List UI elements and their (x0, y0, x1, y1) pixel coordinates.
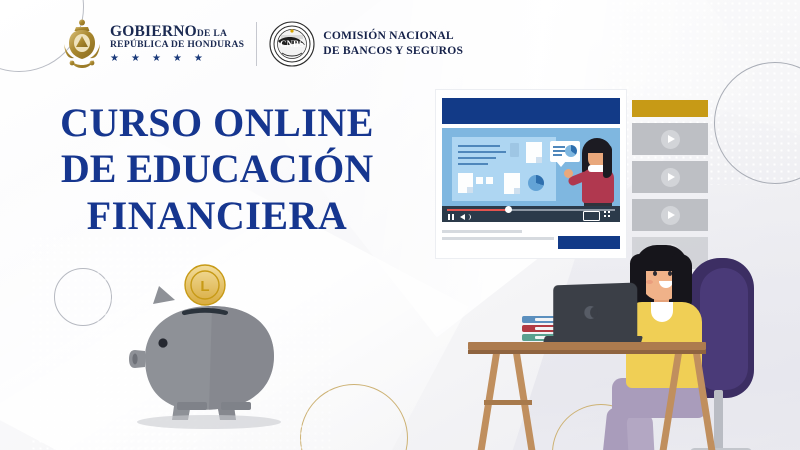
page-title: CURSO ONLINE DE EDUCACIÓN FINANCIERA (22, 100, 412, 239)
video-player-card[interactable] (436, 90, 626, 258)
document-icon (504, 173, 520, 194)
title-line-2: DE EDUCACIÓN (22, 146, 412, 192)
cnbs-logo: CNBS COMISIÓN NACIONAL DE BANCOS Y SEGUR… (269, 21, 463, 67)
logo-divider (256, 22, 257, 66)
video-meta-line (442, 230, 522, 233)
playlist-item[interactable] (632, 123, 708, 155)
honduras-coat-of-arms-icon (62, 18, 102, 70)
progress-knob[interactable] (505, 206, 512, 213)
gov-line-2: REPÚBLICA DE HONDURAS (110, 40, 244, 50)
volume-icon[interactable] (460, 214, 465, 220)
playlist-active-item[interactable] (632, 100, 708, 117)
svg-text:CNBS: CNBS (280, 39, 304, 49)
government-logo: GOBIERNODE LA REPÚBLICA DE HONDURAS ★ ★ … (62, 18, 244, 70)
student-blush (646, 280, 653, 284)
play-icon (661, 168, 680, 187)
gov-line-1: GOBIERNODE LA (110, 24, 244, 40)
online-course-illustration (418, 78, 800, 450)
clipboard-icon (510, 143, 519, 157)
desk-surface (468, 342, 706, 350)
coin-label: L (200, 278, 209, 295)
playlist-item[interactable] (632, 199, 708, 231)
cnbs-line-2: DE BANCOS Y SEGUROS (323, 44, 463, 59)
document-icon (458, 173, 473, 193)
chair-stem (714, 390, 723, 450)
play-icon (661, 130, 680, 149)
laptop-logo-icon (584, 306, 597, 319)
play-icon (661, 206, 680, 225)
star-icon: ★ (152, 54, 161, 64)
title-line-1: CURSO ONLINE (22, 100, 412, 146)
desk-surface-edge (468, 350, 706, 354)
video-controls[interactable] (442, 206, 620, 222)
video-header-bar (442, 98, 620, 124)
piggy-bank-icon: L (105, 262, 320, 448)
desk-crossbar (484, 400, 532, 405)
cnbs-seal-icon: CNBS (269, 21, 315, 67)
laptop-screen (553, 282, 637, 339)
gov-stars: ★ ★ ★ ★ ★ (110, 54, 244, 64)
pie-chart-icon (528, 175, 544, 191)
gov-word-gobierno: GOBIERNO (110, 23, 197, 40)
video-cta-button[interactable] (558, 236, 620, 249)
logo-header: GOBIERNODE LA REPÚBLICA DE HONDURAS ★ ★ … (62, 18, 463, 70)
playlist-item[interactable] (632, 161, 708, 193)
star-icon: ★ (194, 54, 203, 64)
fullscreen-icon[interactable] (583, 211, 600, 221)
progress-fill (447, 209, 509, 211)
student-leg (626, 413, 655, 450)
student-eye (653, 271, 657, 276)
decorative-circle-middle-left (54, 268, 112, 326)
presentation-slide (452, 137, 556, 201)
title-line-3: FINANCIERA (22, 193, 412, 239)
government-logo-text: GOBIERNODE LA REPÚBLICA DE HONDURAS ★ ★ … (110, 24, 244, 64)
cnbs-line-1: COMISIÓN NACIONAL (323, 29, 463, 44)
gov-word-dela: DE LA (197, 29, 227, 39)
video-meta-line (442, 237, 554, 240)
star-icon: ★ (173, 54, 182, 64)
office-chair-cushion (700, 268, 748, 390)
slide-canvas: GOBIERNODE LA REPÚBLICA DE HONDURAS ★ ★ … (0, 0, 800, 450)
star-icon: ★ (110, 54, 119, 64)
settings-dots-icon[interactable] (604, 211, 612, 219)
volume-wave-icon (466, 214, 471, 220)
document-icon (526, 142, 542, 163)
star-icon: ★ (131, 54, 140, 64)
cnbs-logo-text: COMISIÓN NACIONAL DE BANCOS Y SEGUROS (323, 29, 463, 59)
